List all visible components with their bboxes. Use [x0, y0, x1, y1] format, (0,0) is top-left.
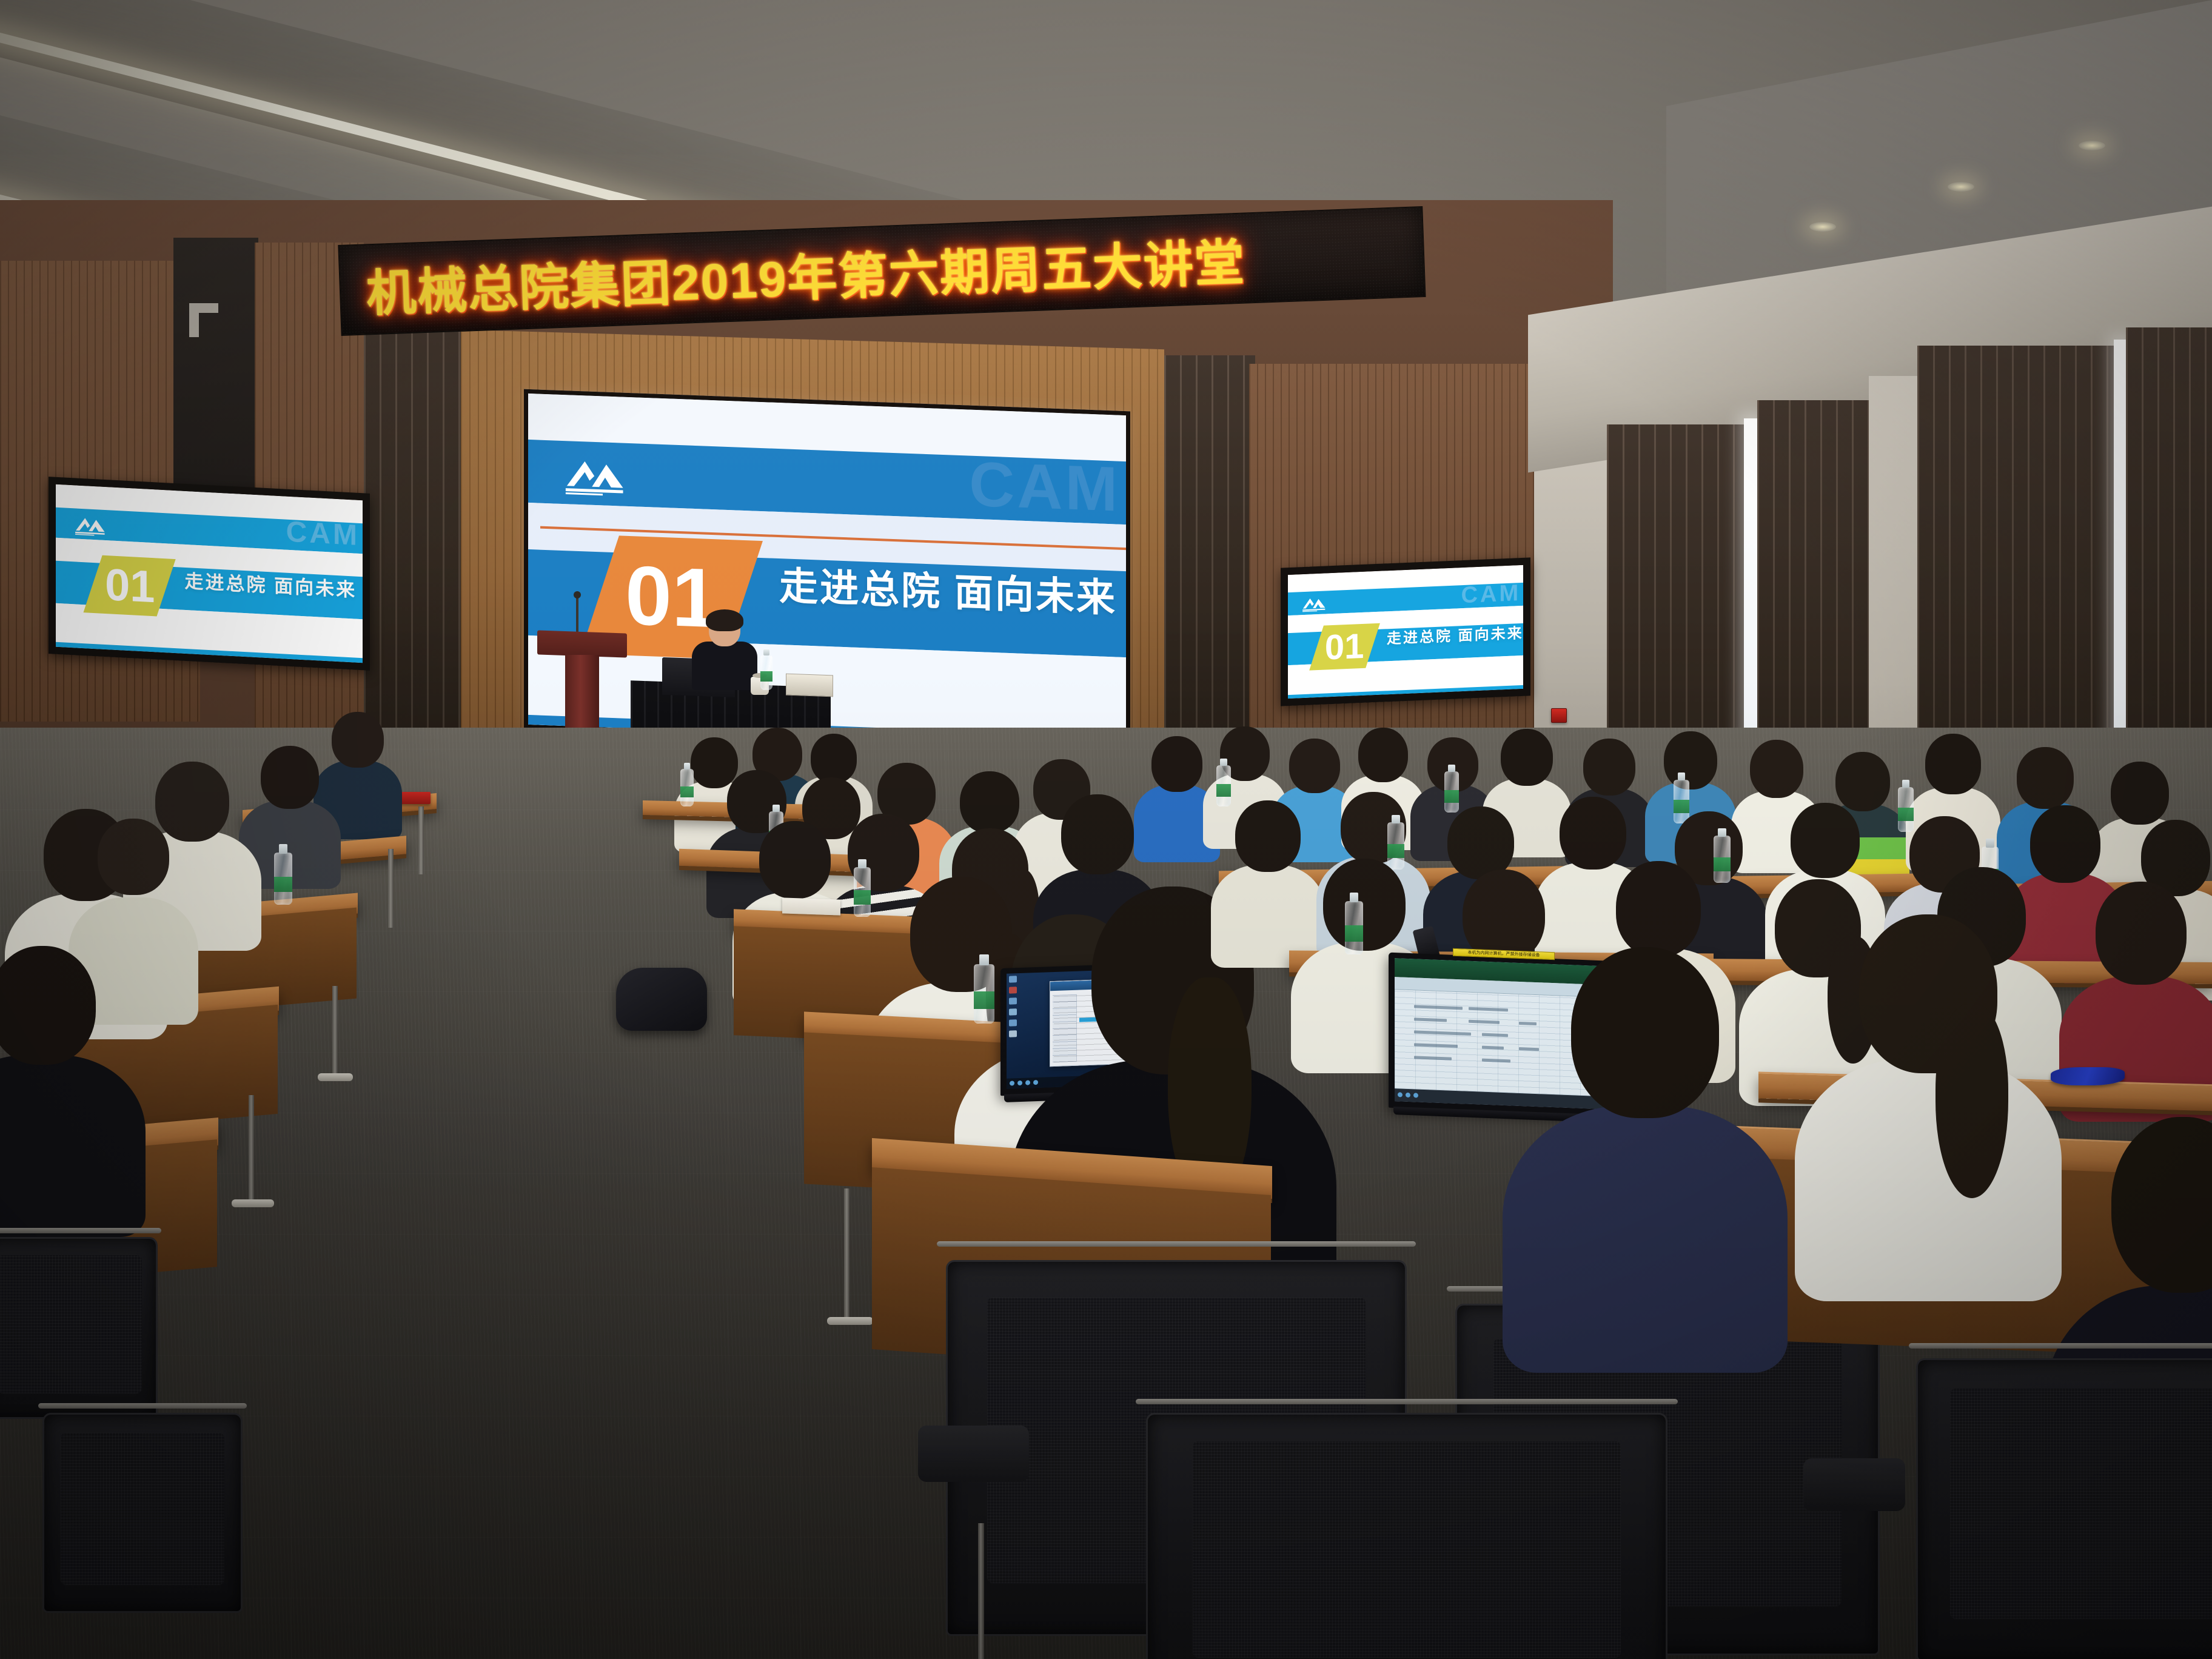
desk-leg	[249, 1095, 254, 1205]
attendee	[0, 946, 133, 1213]
speaker-name-plate	[786, 674, 833, 697]
attendee-foreground	[1807, 913, 2049, 1277]
attendee-head	[1151, 736, 1202, 792]
slide-left-monitor: CAM 01 走进总院 面向未来	[56, 484, 363, 663]
attendee-head	[1925, 734, 1981, 794]
attendee-ponytail	[1935, 1004, 2008, 1198]
desk-leg	[388, 849, 394, 928]
bottle-cap	[773, 805, 780, 813]
attendee-head	[1791, 803, 1860, 878]
bottle-cap	[1392, 815, 1399, 823]
desk-foot	[318, 1073, 353, 1081]
slide-watermark: CAM	[286, 517, 360, 550]
bottle-label	[854, 890, 871, 905]
bottle-cap	[1350, 893, 1358, 902]
chair-armrest	[1803, 1458, 1905, 1511]
attendee-head	[332, 712, 384, 768]
attendee-head	[1061, 794, 1134, 874]
attendee-head	[2096, 882, 2187, 985]
cam-mountain-logo-icon	[1301, 594, 1329, 612]
chair-rail	[1909, 1343, 2212, 1349]
water-bottle	[760, 655, 773, 690]
paper-sheet	[782, 897, 840, 915]
presenter-body	[692, 642, 757, 690]
slide-watermark: CAM	[1461, 581, 1521, 607]
wall-dark-panel-left	[173, 238, 258, 523]
chair-mesh	[1950, 1389, 2212, 1619]
bottle-cap	[684, 763, 691, 769]
attendee-head	[2017, 747, 2074, 809]
attendee-head	[98, 819, 169, 895]
water-bottle	[274, 853, 292, 905]
attendee-head	[1571, 947, 1719, 1118]
desk-foot	[827, 1317, 873, 1325]
chair[interactable]	[0, 1237, 158, 1419]
blue-fabric-on-desk	[2051, 1067, 2125, 1085]
attendee-head	[960, 771, 1019, 833]
slide-number: 01	[104, 562, 154, 609]
stage-curtain-right-folds	[1164, 355, 1255, 780]
attendee-head	[1664, 731, 1717, 789]
bottle-label	[1345, 925, 1363, 941]
water-bottle	[1345, 901, 1363, 954]
slide-right-monitor: CAM 01 走进总院 面向未来	[1288, 565, 1523, 699]
bottle-cap	[1902, 780, 1909, 788]
chair-rail	[937, 1241, 1416, 1247]
slide-number: 01	[1325, 628, 1364, 665]
desk-foot	[232, 1199, 274, 1207]
downlight-3	[2079, 141, 2105, 150]
lecture-hall-photo: 机械总院集团2019年第六期周五大讲堂 CAM 01	[0, 0, 2212, 1659]
bottle-label	[274, 877, 292, 893]
chair[interactable]	[42, 1413, 243, 1613]
bottle-label	[680, 786, 694, 798]
cam-mountain-logo-icon	[73, 513, 110, 538]
bottle-cap	[1718, 828, 1726, 837]
speaker-bracket-stem-icon	[189, 303, 199, 337]
chair-foreground[interactable]	[1146, 1413, 1667, 1659]
attendee-torso	[1795, 1059, 2062, 1301]
attendee-torso	[1503, 1106, 1788, 1373]
chair-mesh	[61, 1433, 225, 1585]
attendee	[2066, 880, 2212, 1099]
bottle-label	[1387, 844, 1404, 858]
attendee-head	[2111, 1117, 2212, 1293]
bottle-label	[1444, 790, 1459, 802]
attendee-head	[1583, 739, 1635, 796]
bottle-cap	[858, 859, 866, 868]
bottle-cap	[1986, 839, 1994, 847]
attendee-head	[261, 746, 319, 809]
slide-watermark: CAM	[969, 453, 1120, 521]
chair-mesh	[1193, 1441, 1620, 1658]
presenter-speaker	[688, 612, 761, 688]
desk-leg	[844, 1188, 850, 1322]
chair-rail	[38, 1403, 246, 1409]
water-bottle	[680, 769, 694, 806]
bottle-cap	[1448, 765, 1455, 772]
attendee-head	[1750, 740, 1803, 798]
downlight-1	[1809, 222, 1836, 232]
attendee-head	[1235, 800, 1301, 872]
chair-rail	[0, 1228, 161, 1233]
fire-alarm-icon	[1551, 708, 1567, 723]
bottle-label	[1216, 784, 1231, 796]
attendee-head	[1560, 797, 1626, 870]
attendee-head	[1358, 728, 1408, 782]
backpack	[616, 968, 707, 1031]
chair-mesh	[0, 1255, 142, 1393]
side-monitor-left: CAM 01 走进总院 面向未来	[49, 477, 370, 671]
side-monitor-right: CAM 01 走进总院 面向未来	[1281, 557, 1530, 706]
bottle-cap	[1678, 773, 1685, 780]
podium-microphone-icon	[576, 597, 578, 633]
chair-foreground[interactable]	[1916, 1358, 2212, 1659]
podium-top	[537, 630, 627, 657]
attendee-head	[1323, 859, 1406, 951]
presenter-hair	[706, 609, 743, 631]
chair-armrest	[918, 1426, 1028, 1482]
bottle-cap	[763, 649, 769, 655]
chair-rail	[1136, 1399, 1678, 1404]
attendee-head	[0, 946, 96, 1065]
bottle-cap	[1220, 759, 1227, 766]
attendee-head	[759, 821, 831, 899]
bottle-label	[760, 671, 773, 682]
chair-post	[978, 1523, 984, 1659]
attendee-head	[1501, 729, 1553, 786]
attendee-head	[1289, 739, 1340, 793]
cam-mountain-logo-icon	[561, 451, 632, 500]
attendee-torso	[0, 1055, 146, 1237]
desk-leg	[332, 986, 338, 1077]
stage-curtain-left-folds	[364, 325, 471, 749]
desk-leg	[418, 806, 424, 874]
attendee-foreground	[1515, 946, 1775, 1346]
bottle-cap	[279, 844, 287, 853]
water-bottle	[854, 867, 871, 917]
downlight-2	[1948, 182, 1974, 192]
attendee-head	[1616, 861, 1701, 957]
